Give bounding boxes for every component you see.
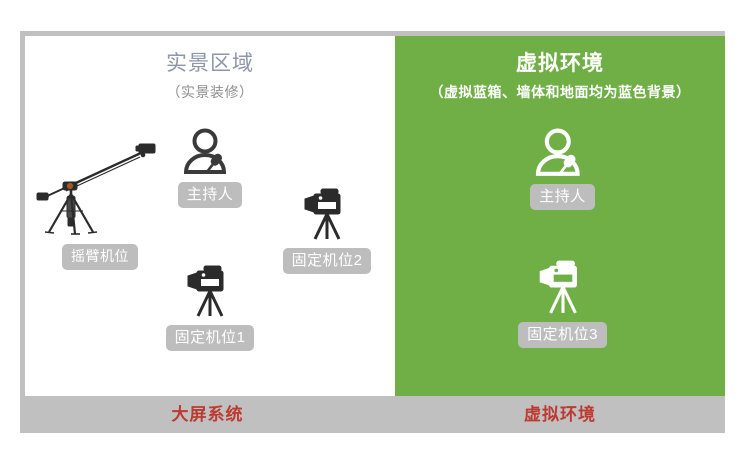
statusbar: 大屏系统 虚拟环境 [20,396,725,433]
presenter-microphone-icon [505,128,620,178]
statusbar-right-label: 虚拟环境 [395,396,725,433]
node-fixed-camera-3[interactable]: 固定机位3 [500,258,625,348]
node-fixed-camera-1[interactable]: 固定机位1 [155,263,265,351]
panel-virtual-environment-title: 虚拟环境 [395,49,725,79]
panel-real-area-header: 实景区域 （实景装修） [25,36,395,103]
node-fixed-camera-2[interactable]: 固定机位2 [272,186,382,274]
panel-virtual-environment-header: 虚拟环境 （虚拟蓝箱、墙体和地面均为蓝色背景） [395,36,725,103]
node-crane-camera[interactable]: 摇臂机位 [30,138,170,270]
crane-camera-icon [30,138,170,238]
node-host-virtual[interactable]: 主持人 [505,128,620,210]
panel-real-area-subtitle: （实景装修） [25,81,395,103]
node-host-virtual-label: 主持人 [530,184,595,210]
statusbar-left-label: 大屏系统 [20,396,395,433]
tripod-camera-icon [500,258,625,316]
presenter-microphone-icon [160,128,260,176]
tripod-camera-icon [155,263,265,319]
node-host-real[interactable]: 主持人 [160,128,260,208]
node-fixed-camera-1-label: 固定机位1 [166,325,255,351]
node-crane-camera-label: 摇臂机位 [62,244,138,270]
node-fixed-camera-2-label: 固定机位2 [283,248,372,274]
panel-real-area-title: 实景区域 [25,49,395,79]
node-fixed-camera-3-label: 固定机位3 [518,322,607,348]
panel-virtual-environment-subtitle: （虚拟蓝箱、墙体和地面均为蓝色背景） [395,81,725,103]
node-host-real-label: 主持人 [178,182,243,208]
diagram-canvas: 实景区域 （实景装修） 虚拟环境 （虚拟蓝箱、墙体和地面均为蓝色背景） [0,0,750,465]
tripod-camera-icon [272,186,382,242]
